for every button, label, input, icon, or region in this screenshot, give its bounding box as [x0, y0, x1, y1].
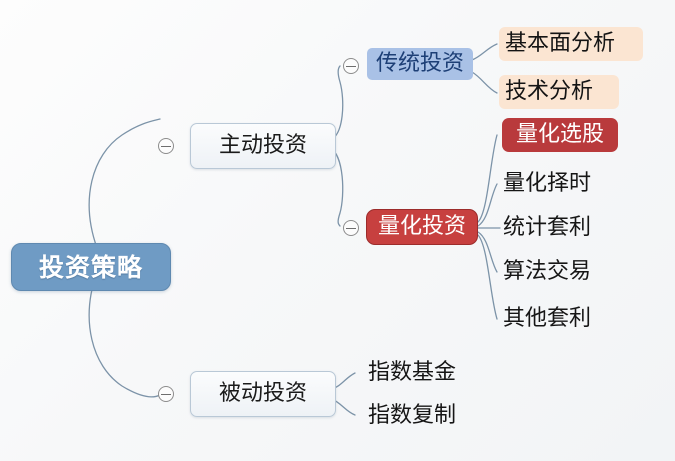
node-passive-investment-label: 被动投资 [219, 383, 307, 405]
node-passive-investment[interactable]: 被动投资 [190, 371, 336, 417]
leaf-other-arbitrage[interactable]: 其他套利 [503, 302, 633, 336]
collapse-minus-icon-active-investment[interactable] [158, 138, 174, 154]
leaf-technical-analysis-label: 技术分析 [505, 81, 593, 103]
root-node[interactable]: 投资策略 [11, 243, 171, 291]
leaf-index-replication-label: 指数复制 [368, 405, 456, 427]
leaf-quant-timing[interactable]: 量化择时 [503, 167, 633, 201]
leaf-fundamental-analysis[interactable]: 基本面分析 [499, 27, 643, 61]
leaf-algorithmic-trading-label: 算法交易 [503, 261, 591, 283]
node-active-investment[interactable]: 主动投资 [190, 123, 336, 169]
node-quant-investment[interactable]: 量化投资 [366, 209, 478, 245]
leaf-quant-stock-selection-label: 量化选股 [516, 124, 604, 146]
collapse-minus-icon-traditional-investment[interactable] [343, 58, 359, 74]
leaf-algorithmic-trading[interactable]: 算法交易 [503, 255, 633, 289]
leaf-index-fund-label: 指数基金 [368, 362, 456, 384]
leaf-statistical-arbitrage-label: 统计套利 [503, 217, 591, 239]
root-node-label: 投资策略 [39, 255, 143, 280]
node-active-investment-label: 主动投资 [219, 135, 307, 157]
collapse-minus-icon-passive-investment[interactable] [158, 386, 174, 402]
node-traditional-investment[interactable]: 传统投资 [367, 48, 473, 80]
collapse-minus-icon-quant-investment[interactable] [343, 220, 359, 236]
leaf-fundamental-analysis-label: 基本面分析 [505, 33, 615, 55]
node-traditional-investment-label: 传统投资 [376, 53, 464, 75]
leaf-index-replication[interactable]: 指数复制 [368, 399, 498, 433]
leaf-quant-stock-selection[interactable]: 量化选股 [502, 118, 618, 152]
leaf-other-arbitrage-label: 其他套利 [503, 308, 591, 330]
leaf-statistical-arbitrage[interactable]: 统计套利 [503, 211, 633, 245]
mindmap-canvas: 投资策略 主动投资 传统投资 基本面分析 技术分析 量化投资 量化选股 量化择时… [0, 0, 675, 461]
node-quant-investment-label: 量化投资 [378, 216, 466, 238]
leaf-quant-timing-label: 量化择时 [503, 173, 591, 195]
leaf-technical-analysis[interactable]: 技术分析 [499, 75, 619, 109]
leaf-index-fund[interactable]: 指数基金 [368, 356, 498, 390]
